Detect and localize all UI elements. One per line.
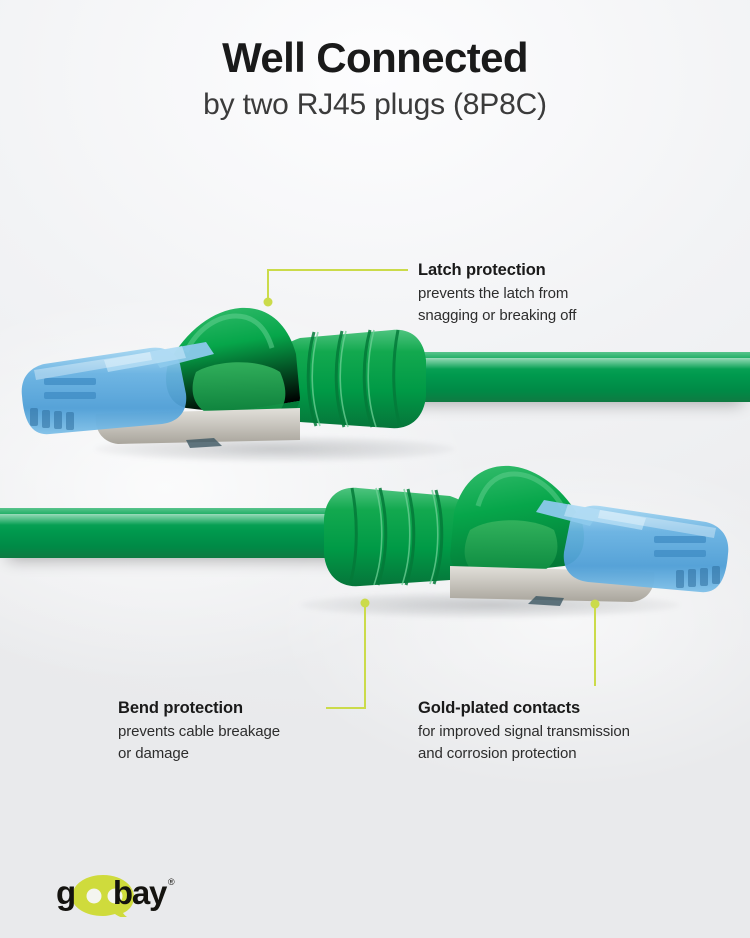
annotation-line: prevents cable breakage <box>118 721 398 743</box>
logo-word-suffix: bay <box>113 874 166 911</box>
rj45-plug-lower <box>0 440 750 630</box>
infographic-canvas: Well Connected by two RJ45 plugs (8P8C) … <box>0 0 750 938</box>
annotation-title: Latch protection <box>418 261 718 280</box>
annotation-line: prevents the latch from <box>418 283 718 305</box>
annotation-line: and corrosion protection <box>418 743 718 765</box>
annotation-title: Bend protection <box>118 699 398 718</box>
annotation-bend-protection: Bend protection prevents cable breakage … <box>118 699 398 765</box>
annotation-title: Gold-plated contacts <box>418 699 718 718</box>
annotation-gold-plated-contacts: Gold-plated contacts for improved signal… <box>418 699 718 765</box>
logo-wordmark: goobay <box>56 873 166 913</box>
rj45-plug-lower-illustration <box>0 440 750 630</box>
annotation-latch-protection: Latch protection prevents the latch from… <box>418 261 718 327</box>
goobay-logo: goobay ® <box>56 873 256 917</box>
registered-trademark-icon: ® <box>168 877 175 887</box>
annotation-line: for improved signal transmission <box>418 721 718 743</box>
header: Well Connected by two RJ45 plugs (8P8C) <box>0 36 750 121</box>
page-title: Well Connected <box>0 36 750 80</box>
logo-word-prefix: g <box>56 874 75 911</box>
annotation-line: snagging or breaking off <box>418 305 718 327</box>
product-photo <box>0 0 750 938</box>
page-subtitle: by two RJ45 plugs (8P8C) <box>0 88 750 121</box>
annotation-line: or damage <box>118 743 398 765</box>
